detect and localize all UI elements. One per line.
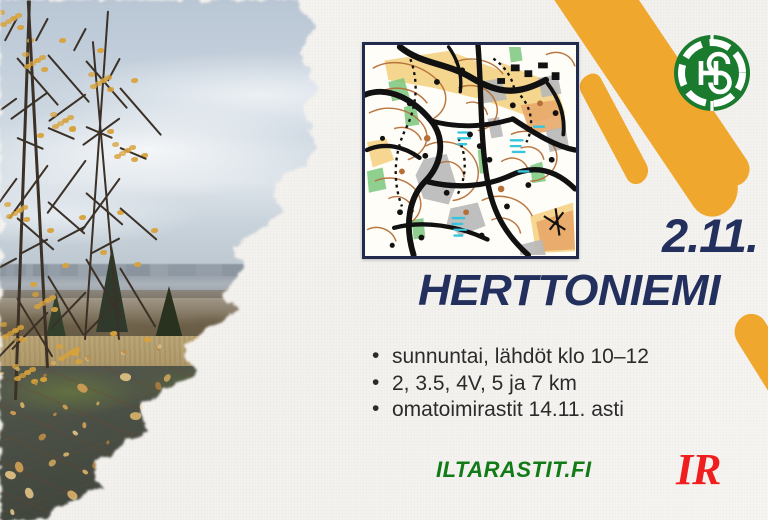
list-item: omatoimirastit 14.11. asti — [368, 397, 760, 424]
photo-content — [0, 0, 420, 520]
poster-canvas: 2.11. HERTTONIEMI sunnuntai, lähdöt klo … — [0, 0, 768, 520]
iltarastit-logo-ir: IR — [676, 446, 756, 494]
bare-branches — [0, 0, 210, 400]
event-date: 2.11. — [612, 208, 758, 264]
list-item: sunnuntai, lähdöt klo 10–12 — [368, 344, 760, 371]
website-url[interactable]: ILTARASTIT.FI — [436, 455, 646, 485]
club-logo-hs — [672, 33, 752, 113]
list-item: 2, 3.5, 4V, 5 ja 7 km — [368, 371, 760, 398]
page-title: HERTTONIEMI — [376, 268, 762, 314]
landscape-photo — [0, 0, 420, 520]
orienteering-map-thumbnail — [362, 42, 579, 259]
event-details-list: sunnuntai, lähdöt klo 10–12 2, 3.5, 4V, … — [368, 344, 760, 424]
